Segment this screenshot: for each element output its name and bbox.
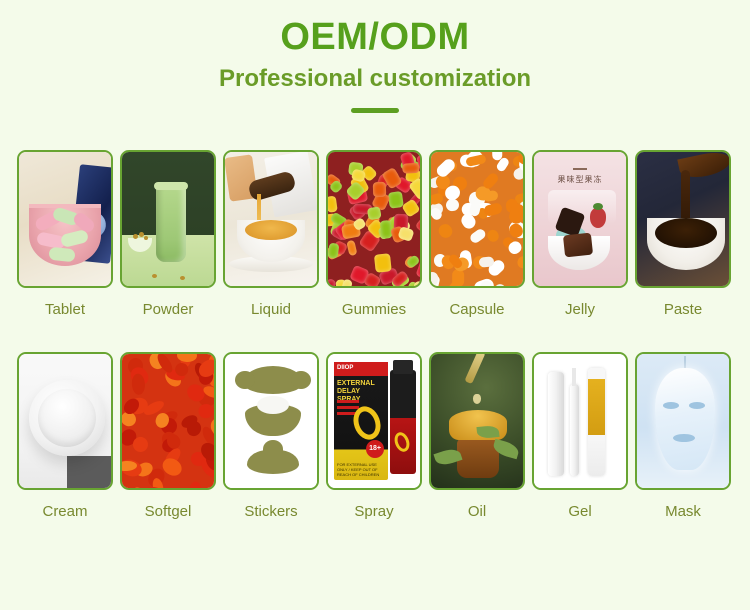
product-cell-oil[interactable]: Oil: [429, 352, 525, 521]
product-cell-capsule[interactable]: Capsule: [429, 150, 525, 319]
product-cell-powder[interactable]: Powder: [120, 150, 216, 319]
jelly-package-dash: [573, 168, 587, 170]
product-label-jelly: Jelly: [565, 301, 595, 319]
product-card-stickers[interactable]: [223, 352, 319, 490]
product-cell-spray[interactable]: DIIOP EXTERNAL DELAY SPRAY 18+ FOR EXTER…: [326, 352, 422, 521]
softgel-photo: [122, 354, 214, 488]
product-label-oil: Oil: [468, 503, 486, 521]
page-subtitle: Professional customization: [0, 62, 750, 96]
product-cell-stickers[interactable]: Stickers: [223, 352, 319, 521]
product-card-spray[interactable]: DIIOP EXTERNAL DELAY SPRAY 18+ FOR EXTER…: [326, 352, 422, 490]
jelly-photo: 果味型果冻: [534, 152, 626, 286]
mask-photo: [637, 354, 729, 488]
product-card-oil[interactable]: [429, 352, 525, 490]
tablet-photo: [19, 152, 111, 286]
product-card-softgel[interactable]: [120, 352, 216, 490]
gummies-photo: [328, 152, 420, 286]
product-cell-paste[interactable]: Paste: [635, 150, 731, 319]
product-card-gummies[interactable]: [326, 150, 422, 288]
product-cell-softgel[interactable]: Softgel: [120, 352, 216, 521]
product-row-2: Cream Softgel Stickers: [17, 352, 733, 521]
product-label-gummies: Gummies: [342, 301, 406, 319]
product-cell-mask[interactable]: Mask: [635, 352, 731, 521]
product-card-jelly[interactable]: 果味型果冻: [532, 150, 628, 288]
cream-photo: [19, 354, 111, 488]
product-label-stickers: Stickers: [244, 503, 297, 521]
product-cell-jelly[interactable]: 果味型果冻 Jelly: [532, 150, 628, 319]
jelly-package-text: 果味型果冻: [534, 174, 626, 185]
product-label-cream: Cream: [42, 503, 87, 521]
oil-photo: [431, 354, 523, 488]
product-card-gel[interactable]: [532, 352, 628, 490]
product-label-capsule: Capsule: [449, 301, 504, 319]
product-card-liquid[interactable]: [223, 150, 319, 288]
liquid-photo: [225, 152, 317, 286]
product-card-cream[interactable]: [17, 352, 113, 490]
page-title: OEM/ODM: [0, 14, 750, 60]
product-cell-gummies[interactable]: Gummies: [326, 150, 422, 319]
product-cell-tablet[interactable]: Tablet: [17, 150, 113, 319]
spray-brand-text: DIIOP: [337, 365, 353, 371]
product-card-tablet[interactable]: [17, 150, 113, 288]
product-cell-cream[interactable]: Cream: [17, 352, 113, 521]
powder-photo: [122, 152, 214, 286]
product-card-paste[interactable]: [635, 150, 731, 288]
product-label-mask: Mask: [665, 503, 701, 521]
capsule-photo: [431, 152, 523, 286]
paste-photo: [637, 152, 729, 286]
spray-photo: DIIOP EXTERNAL DELAY SPRAY 18+ FOR EXTER…: [328, 354, 420, 488]
product-card-mask[interactable]: [635, 352, 731, 490]
product-card-capsule[interactable]: [429, 150, 525, 288]
product-label-gel: Gel: [568, 503, 591, 521]
spray-footnote-text: FOR EXTERNAL USE ONLY / KEEP OUT OF REAC…: [337, 462, 385, 477]
product-label-paste: Paste: [664, 301, 702, 319]
gel-photo: [534, 354, 626, 488]
product-label-spray: Spray: [354, 503, 393, 521]
product-card-powder[interactable]: [120, 150, 216, 288]
stickers-photo: [225, 354, 317, 488]
product-label-powder: Powder: [143, 301, 194, 319]
product-form-grid: Tablet Powder: [17, 150, 733, 521]
page-header: OEM/ODM Professional customization: [0, 0, 750, 113]
product-cell-liquid[interactable]: Liquid: [223, 150, 319, 319]
product-label-softgel: Softgel: [145, 503, 192, 521]
product-row-1: Tablet Powder: [17, 150, 733, 319]
product-label-liquid: Liquid: [251, 301, 291, 319]
title-divider: [351, 108, 399, 113]
product-label-tablet: Tablet: [45, 301, 85, 319]
product-cell-gel[interactable]: Gel: [532, 352, 628, 521]
spray-age-badge: 18+: [366, 440, 384, 458]
